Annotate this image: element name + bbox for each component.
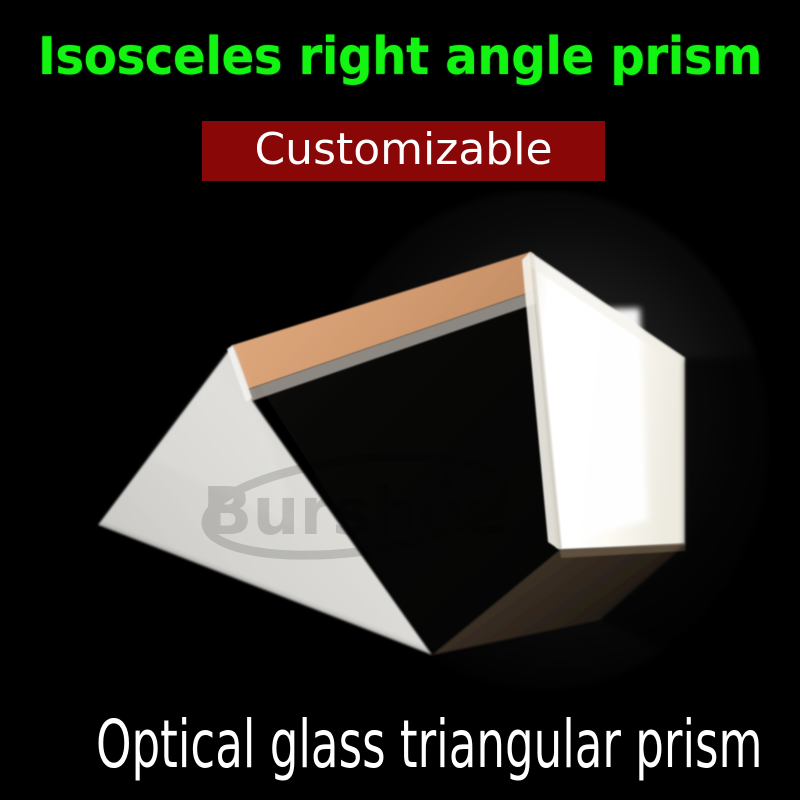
product-image-canvas: Burshee ★ Isosceles right angle prism Cu… [0, 0, 800, 800]
page-title: Isosceles right angle prism [28, 26, 772, 88]
prism-product-photo [0, 190, 800, 710]
product-caption: Optical glass triangular prism [96, 706, 704, 784]
customizable-badge: Customizable [202, 121, 605, 181]
customizable-badge-label: Customizable [254, 127, 552, 173]
